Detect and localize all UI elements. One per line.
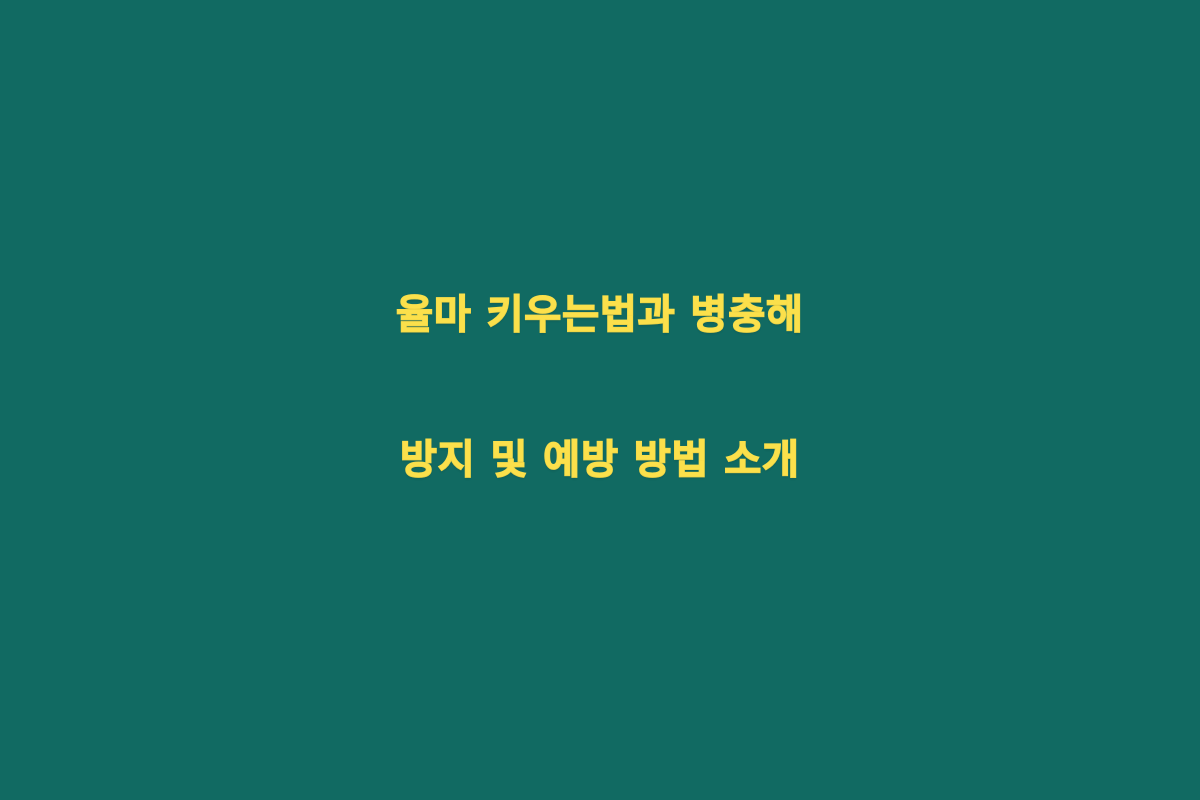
headline-block: 율마 키우는법과 병충해 방지 및 예방 방법 소개 (60, 243, 1140, 533)
banner-canvas: 율마 키우는법과 병충해 방지 및 예방 방법 소개 (0, 0, 1200, 800)
headline-line-1: 율마 키우는법과 병충해 (60, 243, 1140, 388)
headline-line-2: 방지 및 예방 방법 소개 (60, 388, 1140, 533)
